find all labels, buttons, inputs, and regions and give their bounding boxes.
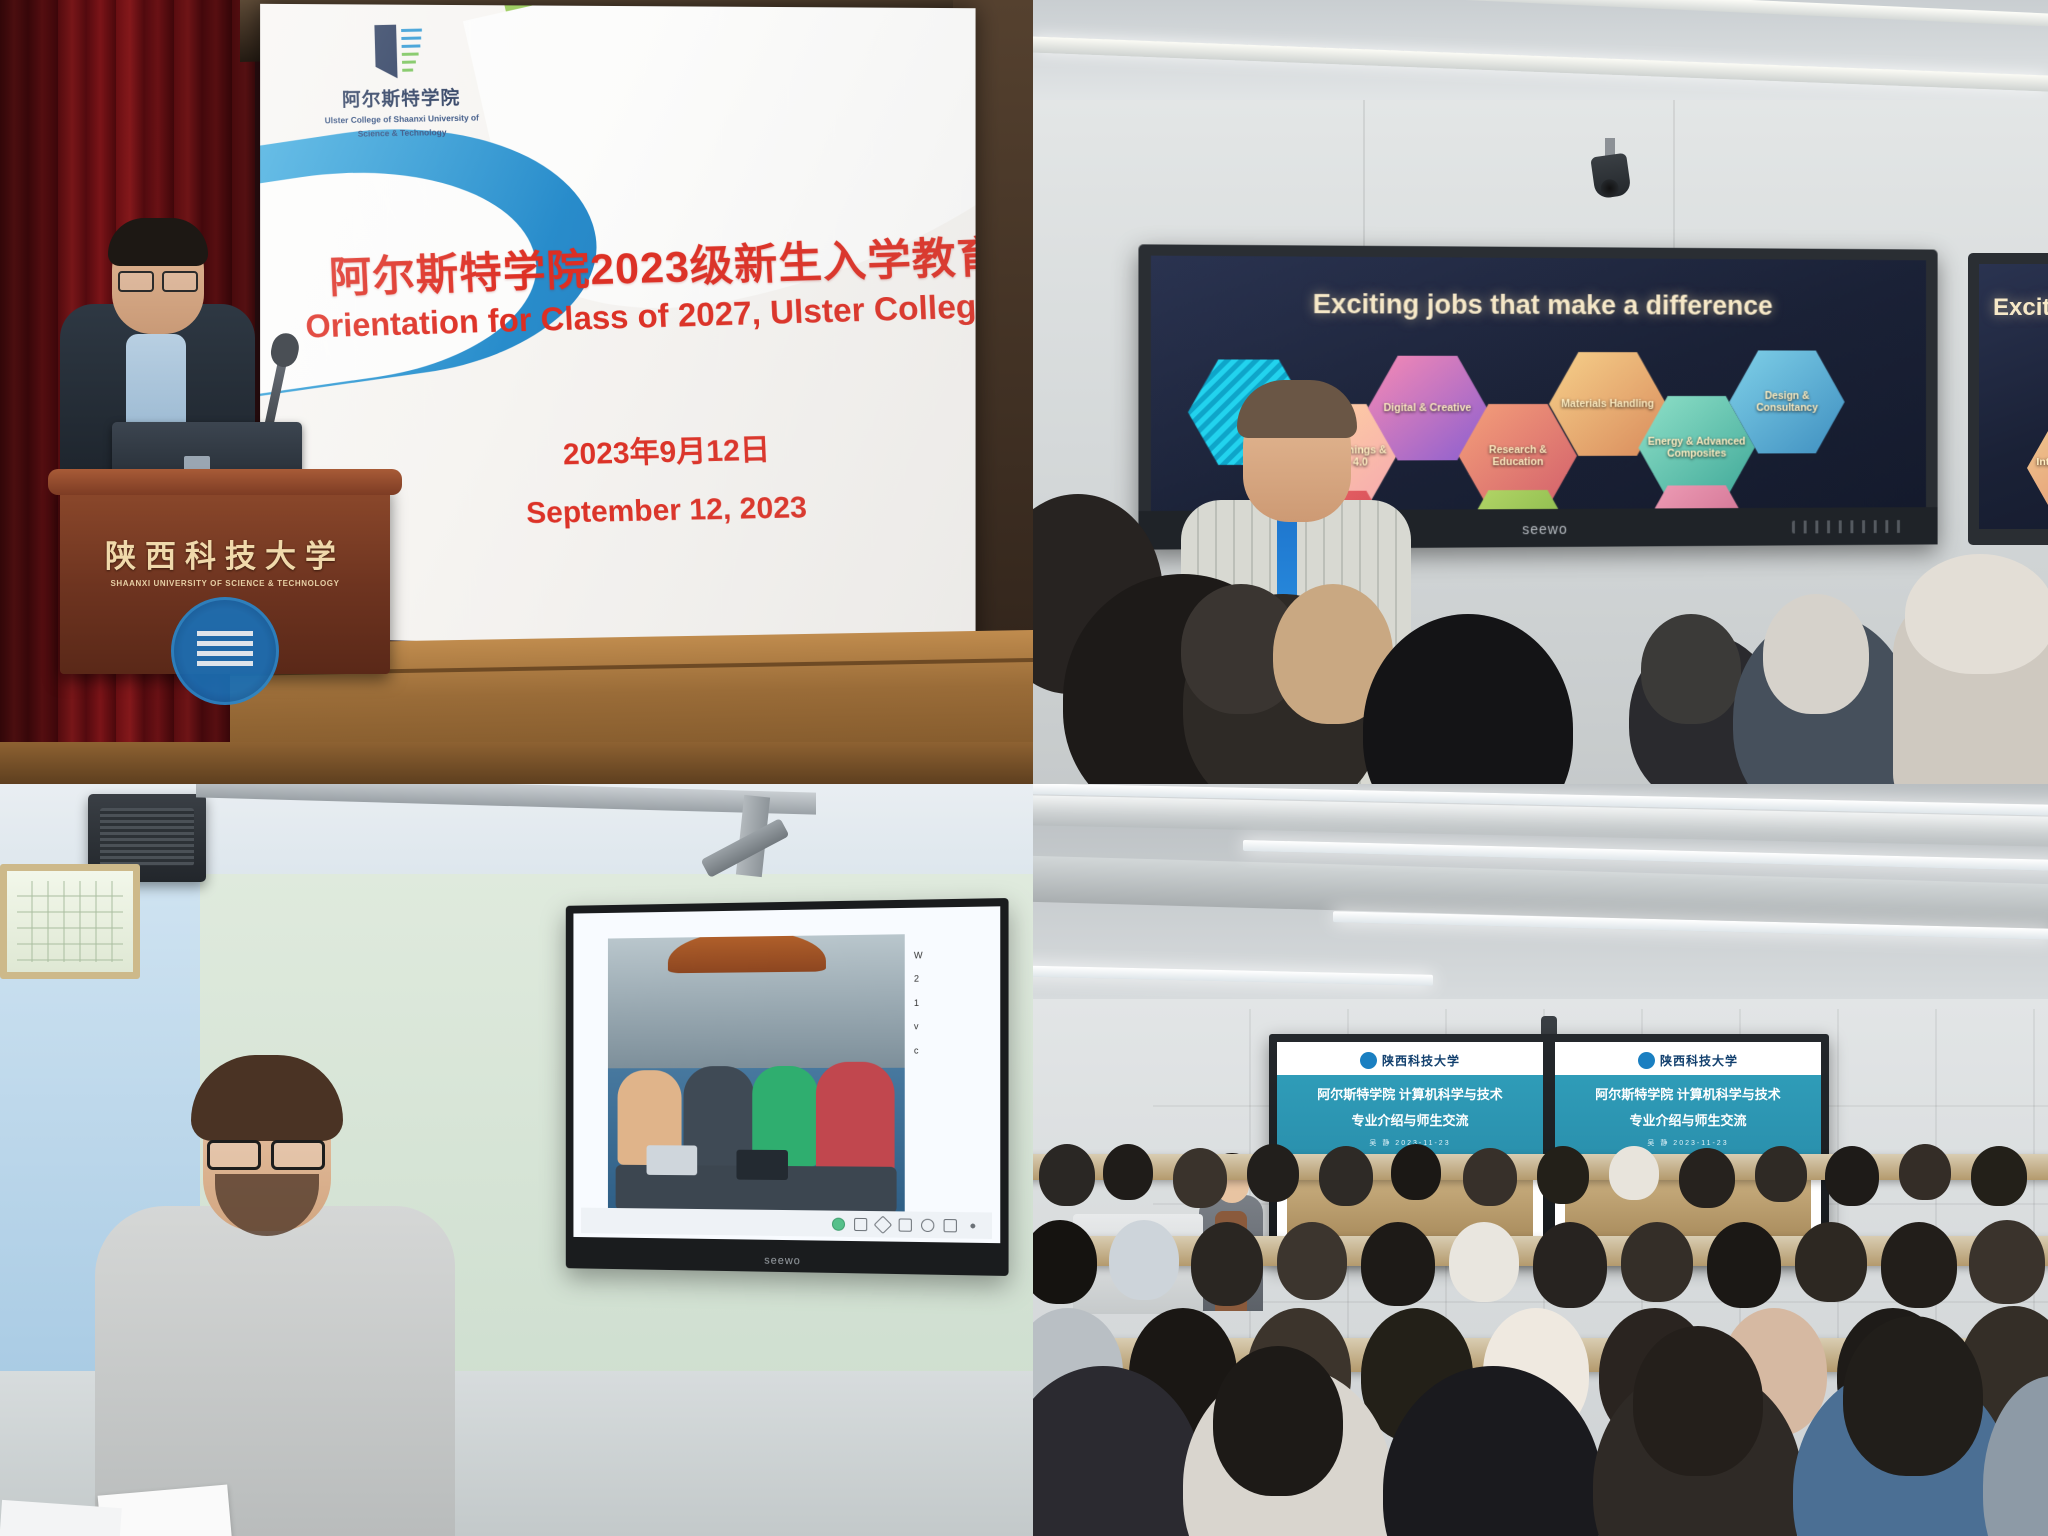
student-head: [1969, 1220, 2045, 1304]
hex-iot-2: Internet of Things & Industrie 4.0: [2027, 416, 2048, 520]
laptop-device: [736, 1150, 788, 1180]
shape-icon[interactable]: [944, 1218, 957, 1231]
slide-title-secondary: Exciting jobs: [1979, 294, 2048, 322]
display-panel-secondary: Exciting jobs Digital & Creative Interne…: [1968, 253, 2048, 545]
dragon-boat-shape: [668, 934, 826, 973]
palette-icon[interactable]: [832, 1217, 845, 1230]
cursor-icon[interactable]: [874, 1215, 893, 1234]
student-head: [1881, 1222, 1957, 1308]
speaker-glasses: [118, 271, 198, 288]
student-head: [1213, 1346, 1343, 1496]
stage-floor: [0, 742, 1033, 784]
slide-date-cn: 2023年9月12日: [407, 421, 930, 477]
hex-agri-engineering: Agri-Engineering: [1459, 490, 1577, 511]
student-head: [1247, 1144, 1299, 1202]
student-head: [1971, 1146, 2027, 1206]
security-camera-icon: [1590, 153, 1631, 200]
instructor-hair: [191, 1055, 343, 1141]
student-head: [1825, 1146, 1879, 1206]
student-head: [1391, 1144, 1441, 1200]
audience-head: [1641, 614, 1741, 724]
smartboard-photo-content: [608, 934, 905, 1213]
interactive-smartboard[interactable]: W 2 1 v c seewo: [566, 898, 1009, 1276]
lectern-podium: 陕西科技大学 SHAANXI UNIVERSITY OF SCIENCE & T…: [60, 479, 390, 674]
more-icon[interactable]: [966, 1219, 979, 1232]
student-head: [1039, 1144, 1095, 1206]
pinboard: [0, 864, 140, 979]
grid-icon[interactable]: [854, 1217, 867, 1230]
student-head: [1707, 1222, 1781, 1308]
student-head: [1533, 1222, 1607, 1308]
speaker-hair: [108, 218, 208, 266]
student-head: [1277, 1222, 1347, 1300]
student-head: [1103, 1144, 1153, 1200]
side-text-line: W: [914, 943, 994, 968]
eraser-icon[interactable]: [921, 1218, 934, 1231]
audience-group: [1033, 514, 2048, 784]
university-seal-icon: [171, 597, 279, 705]
smartboard-toolbar[interactable]: [581, 1208, 992, 1239]
book-shield-icon: [370, 20, 429, 83]
lecturer-hair: [1237, 380, 1357, 438]
instructor-person: [95, 1016, 455, 1536]
student-figure: [816, 1062, 895, 1173]
instructor-sweater: [95, 1206, 455, 1536]
student-head: [1449, 1222, 1519, 1302]
panel-classroom-instructor: W 2 1 v c seewo: [0, 784, 1033, 1536]
student-head: [1679, 1148, 1735, 1208]
panel-ulster-lecturer: Exciting jobs Digital & Creative Interne…: [1033, 0, 2048, 784]
side-text-line: 1: [914, 991, 994, 1015]
student-head: [1319, 1146, 1373, 1206]
podium-en-text: SHAANXI UNIVERSITY OF SCIENCE & TECHNOLO…: [60, 579, 390, 588]
ulster-college-logo: 阿尔斯特学院 Ulster College of Shaanxi Univers…: [286, 18, 516, 141]
audience-head: [1363, 614, 1573, 784]
side-text-line: 2: [914, 967, 994, 992]
audience-head: [1905, 554, 2048, 674]
logo-en-line1: Ulster College of Shaanxi University of: [288, 112, 515, 127]
logo-cn-name: 阿尔斯特学院: [288, 82, 516, 113]
logo-en-line2: Science & Technology: [289, 126, 516, 141]
slide-date-en: September 12, 2023: [407, 489, 929, 534]
student-head: [1191, 1222, 1263, 1306]
smartboard-brand-label: seewo: [764, 1255, 801, 1268]
lecture-hall-audience: [1033, 1016, 2048, 1536]
panel-auditorium-orientation: 阿尔斯特学院 Ulster College of Shaanxi Univers…: [0, 0, 1033, 784]
student-head: [1361, 1222, 1435, 1306]
student-head: [1609, 1146, 1659, 1200]
student-head: [1755, 1146, 1807, 1202]
student-head: [1621, 1222, 1693, 1302]
podium-cn-text: 陕西科技大学: [60, 531, 390, 576]
laptop-device: [647, 1145, 698, 1175]
student-head: [1795, 1222, 1867, 1302]
student-head: [1463, 1148, 1517, 1206]
hexagon-grid-secondary: Digital & Creative Internet of Things & …: [2005, 344, 2048, 525]
display-screen-secondary: Exciting jobs Digital & Creative Interne…: [1979, 264, 2048, 529]
podium-top-lip: [48, 469, 402, 495]
audience-head: [1763, 594, 1869, 714]
pen-icon[interactable]: [899, 1218, 912, 1231]
student-head: [1633, 1326, 1763, 1476]
instructor-glasses: [207, 1140, 325, 1164]
side-text-line: c: [914, 1039, 994, 1063]
side-text-line: v: [914, 1015, 994, 1039]
student-head: [1033, 1220, 1097, 1304]
photo-collage: 阿尔斯特学院 Ulster College of Shaanxi Univers…: [0, 0, 2048, 1536]
student-head: [1109, 1220, 1179, 1300]
smartboard-side-text: W 2 1 v c: [914, 943, 994, 1063]
panel-lecture-hall: 陕西科技大学 阿尔斯特学院 计算机科学与技术 专业介绍与师生交流 吴 静 202…: [1033, 784, 2048, 1536]
smartboard-screen[interactable]: W 2 1 v c: [573, 906, 1000, 1243]
student-head: [1843, 1316, 1983, 1476]
student-head: [1537, 1146, 1589, 1204]
student-head: [1899, 1144, 1951, 1200]
student-head: [1173, 1148, 1227, 1208]
